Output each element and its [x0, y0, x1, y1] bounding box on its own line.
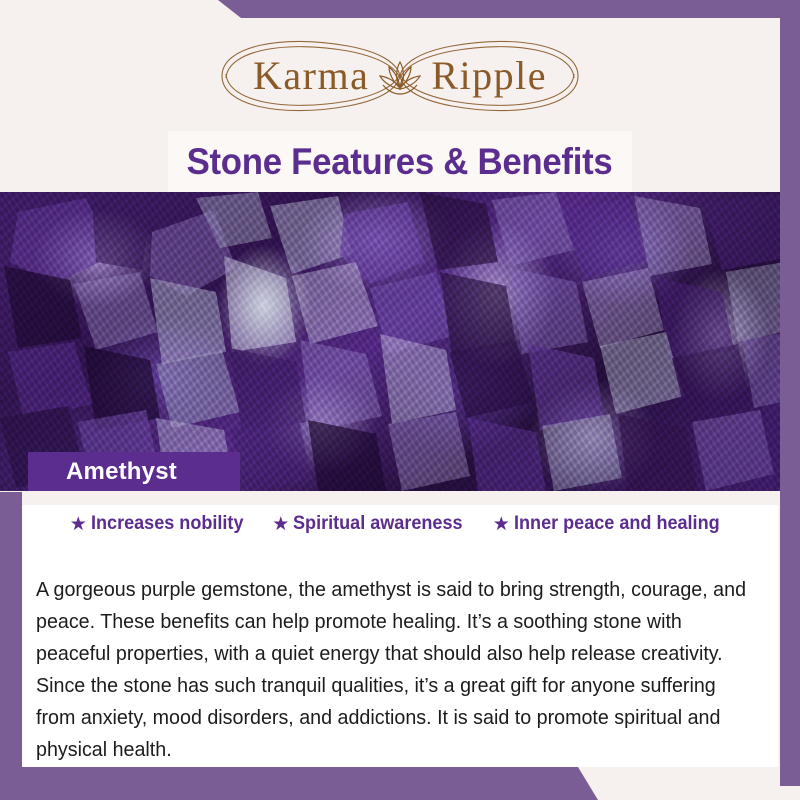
star-icon: ★	[272, 515, 289, 534]
product-infographic: Karma Ripple Ston	[0, 0, 800, 800]
stone-description: A gorgeous purple gemstone, the amethyst…	[36, 574, 748, 766]
frame-left-bar	[0, 492, 22, 800]
frame-top-bar	[210, 0, 800, 18]
stone-name: Amethyst	[66, 458, 177, 486]
star-icon: ★	[493, 515, 510, 534]
benefit-label: Spiritual awareness	[293, 513, 463, 535]
benefit-item: ★ Increases nobility	[70, 513, 252, 535]
brand-word-right: Ripple	[431, 56, 547, 96]
page-title: Stone Features & Benefits	[187, 141, 613, 183]
stone-photo	[0, 192, 800, 491]
lotus-icon	[377, 54, 423, 98]
stone-name-banner: Amethyst	[28, 452, 240, 491]
stone-photo-vignette	[0, 192, 800, 491]
brand-logo: Karma Ripple	[0, 26, 800, 126]
frame-right-bar	[780, 0, 800, 786]
content-panel: ★ Increases nobility ★ Spiritual awarene…	[22, 505, 778, 767]
star-icon: ★	[70, 515, 87, 534]
benefit-label: Inner peace and healing	[514, 513, 720, 535]
benefit-item: ★ Spiritual awareness	[272, 513, 472, 535]
benefit-label: Increases nobility	[91, 513, 243, 535]
page-title-band: Stone Features & Benefits	[168, 131, 632, 192]
benefits-list: ★ Increases nobility ★ Spiritual awarene…	[22, 513, 778, 535]
brand-word-left: Karma	[253, 56, 369, 96]
benefit-item: ★ Inner peace and healing	[493, 513, 731, 535]
frame-bottom-bar	[0, 767, 598, 800]
